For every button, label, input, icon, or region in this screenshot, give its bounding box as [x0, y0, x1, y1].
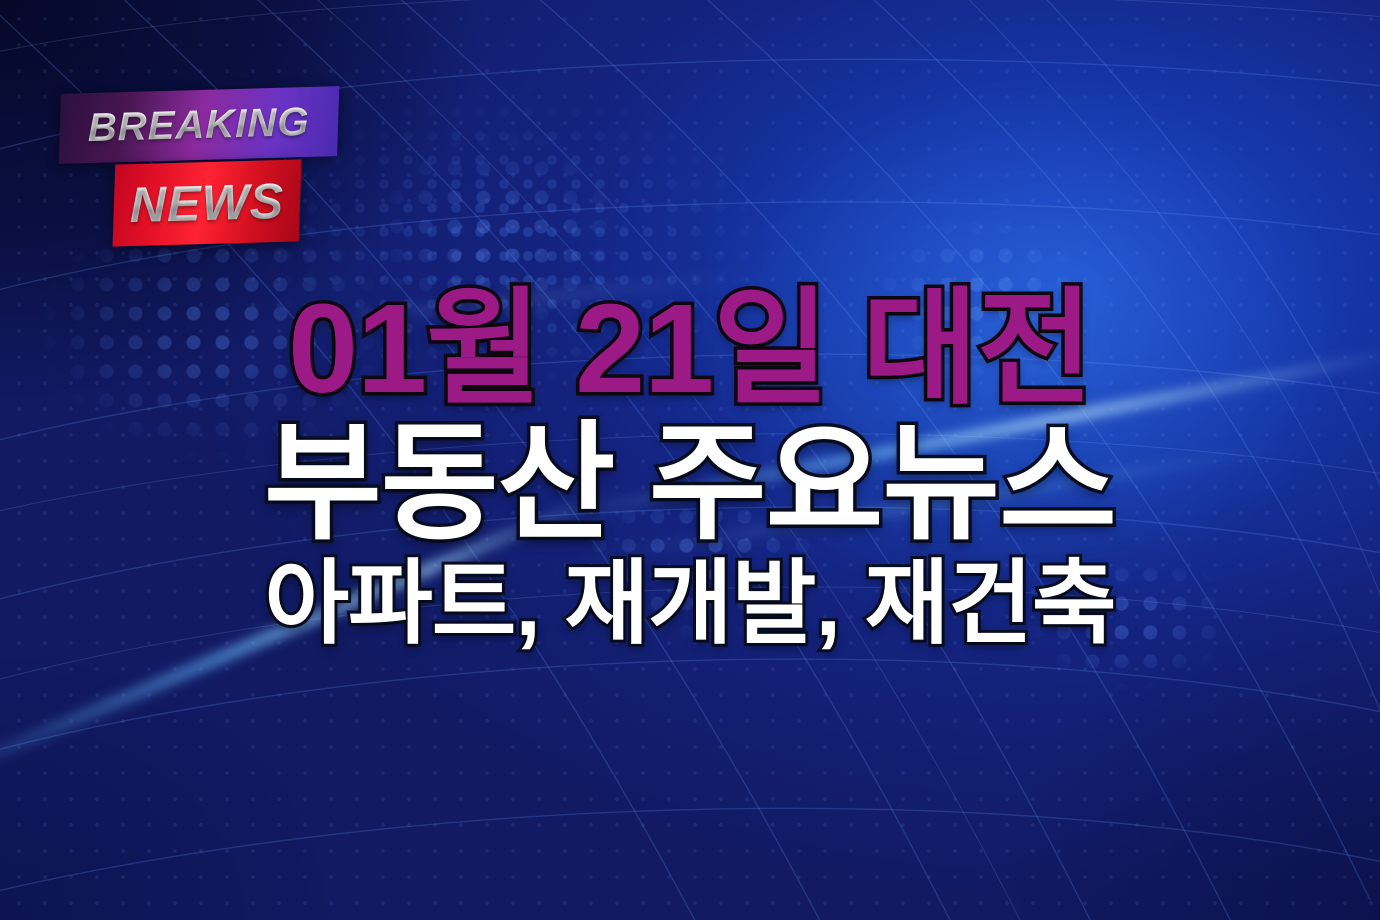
- news-bar: NEWS: [113, 159, 302, 246]
- headline-sub-line: 아파트, 재개발, 재건축: [0, 558, 1380, 650]
- headline-block: 01월 21일 대전 부동산 주요뉴스 아파트, 재개발, 재건축: [0, 286, 1380, 650]
- headline-date-line: 01월 21일 대전: [0, 286, 1380, 412]
- headline-main-line: 부동산 주요뉴스: [0, 420, 1380, 548]
- breaking-label: BREAKING: [88, 102, 310, 148]
- breaking-news-badge: BREAKING NEWS: [52, 86, 352, 256]
- breaking-bar: BREAKING: [59, 86, 340, 164]
- news-label: NEWS: [130, 176, 284, 230]
- breaking-news-graphic: BREAKING NEWS 01월 21일 대전 부동산 주요뉴스 아파트, 재…: [0, 0, 1380, 920]
